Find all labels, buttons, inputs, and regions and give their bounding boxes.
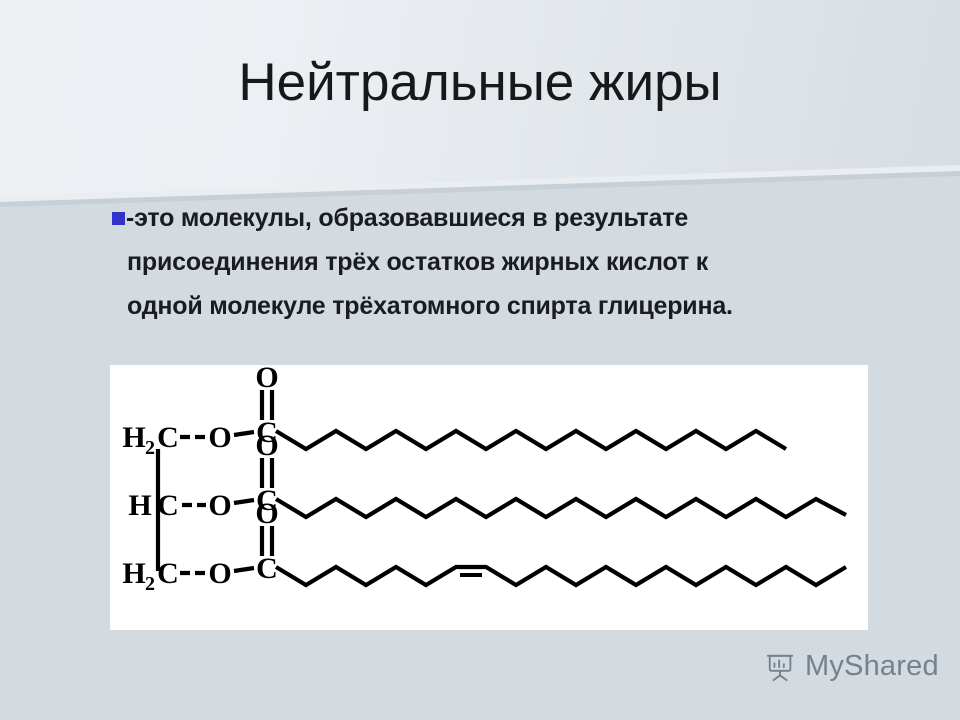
- ester-bond-row1-right: [234, 432, 254, 435]
- bullet-line-1-text: -это молекулы, образовавшиеся в результа…: [126, 204, 688, 232]
- ester-bond-row3-right: [234, 568, 254, 571]
- body-text-block: -это молекулы, образовавшиеся в результа…: [112, 196, 902, 328]
- fatty-acid-chain-1: [276, 431, 786, 449]
- myshared-watermark: MyShared: [766, 650, 939, 683]
- atom-label-c-top: C: [157, 421, 179, 454]
- atom-label-h2c-bottom: H: [122, 557, 145, 590]
- atom-label-carbonyl-o-row1: O: [255, 365, 278, 394]
- fatty-acid-chain-3: [276, 567, 846, 585]
- bullet-line-3-text: одной молекуле трёхатомного спирта глице…: [127, 292, 733, 320]
- atom-label-carbonyl-c-row3: C: [256, 552, 278, 585]
- bullet-line-3: одной молекуле трёхатомного спирта глице…: [112, 284, 902, 328]
- triglyceride-figure-panel: H 2 C H C H 2 C O O O C C C O: [110, 365, 868, 630]
- presentation-board-icon: [766, 652, 796, 682]
- atom-label-h2c-top-subscript: 2: [145, 437, 155, 459]
- atom-label-h2c-top: H: [122, 421, 145, 454]
- bullet-line-1: -это молекулы, образовавшиеся в результа…: [112, 196, 902, 240]
- fatty-acid-chain-2: [276, 499, 846, 517]
- atom-label-carbonyl-o-row2: O: [255, 429, 278, 462]
- atom-label-h-mid: H: [128, 489, 151, 522]
- triglyceride-structure-diagram: H 2 C H C H 2 C O O O C C C O: [110, 365, 868, 630]
- page-title: Нейтральные жиры: [0, 52, 960, 114]
- atom-label-ester-o-row2: O: [208, 489, 231, 522]
- bullet-square-icon: [112, 212, 125, 225]
- atom-label-ester-o-row3: O: [208, 557, 231, 590]
- atom-label-ester-o-row1: O: [208, 421, 231, 454]
- watermark-label: MyShared: [805, 650, 939, 683]
- slide-canvas: Нейтральные жиры -это молекулы, образова…: [0, 0, 960, 720]
- bullet-line-2: присоединения трёх остатков жирных кисло…: [112, 240, 902, 284]
- atom-label-c-bottom: C: [157, 557, 179, 590]
- atom-label-carbonyl-o-row3: O: [255, 497, 278, 530]
- bullet-line-2-text: присоединения трёх остатков жирных кисло…: [127, 248, 708, 276]
- atom-label-c-mid: C: [157, 489, 179, 522]
- atom-label-h2c-bottom-subscript: 2: [145, 573, 155, 595]
- ester-bond-row2-right: [234, 500, 254, 503]
